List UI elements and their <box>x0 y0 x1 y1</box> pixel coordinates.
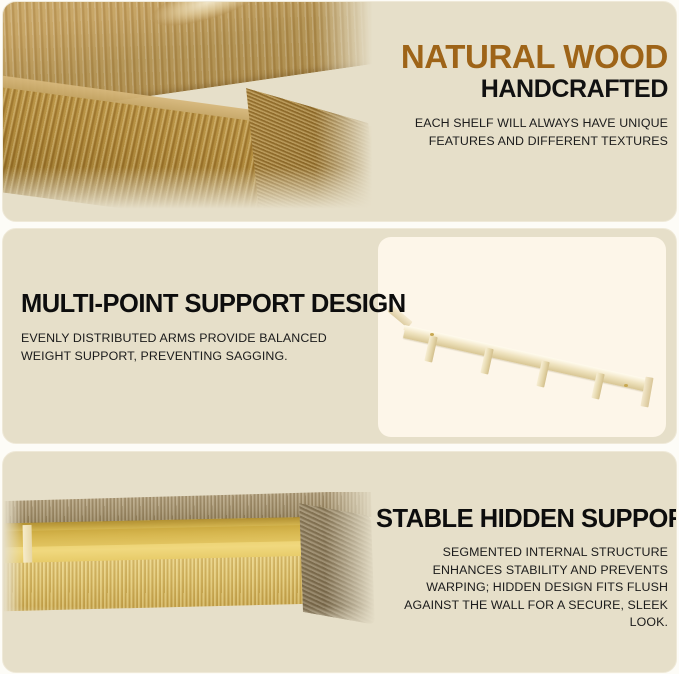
panel-3-text-block: STABLE HIDDEN SUPPORT SEGMENTED INTERNAL… <box>376 506 668 632</box>
bracket-rail-highlight <box>403 325 646 384</box>
bracket-graphic <box>378 237 666 437</box>
wood-knot <box>147 1 272 36</box>
subheading-handcrafted: HANDCRAFTED <box>376 77 668 103</box>
infographic-sheet: NATURAL WOOD HANDCRAFTED EACH SHELF WILL… <box>0 0 679 674</box>
panel-stable-hidden-support: STABLE HIDDEN SUPPORT SEGMENTED INTERNAL… <box>2 451 677 673</box>
panel-natural-wood: NATURAL WOOD HANDCRAFTED EACH SHELF WILL… <box>2 1 677 222</box>
wood-board-photo <box>2 1 385 222</box>
panel-3-body-text: SEGMENTED INTERNAL STRUCTURE ENHANCES ST… <box>376 544 668 632</box>
cavity-back-wall <box>2 525 323 548</box>
photo-fade-bottom <box>2 606 385 642</box>
hidden-support-photo <box>2 492 385 642</box>
panel-2-text-block: MULTI-POINT SUPPORT DESIGN EVENLY DISTRI… <box>21 291 371 365</box>
panel-2-body-text: EVENLY DISTRIBUTED ARMS PROVIDE BALANCED… <box>21 330 371 365</box>
panel-multi-point-support: MULTI-POINT SUPPORT DESIGN EVENLY DISTRI… <box>2 228 677 444</box>
panel-1-text-block: NATURAL WOOD HANDCRAFTED EACH SHELF WILL… <box>376 40 668 150</box>
panel-1-body-text: EACH SHELF WILL ALWAYS HAVE UNIQUE FEATU… <box>376 115 668 150</box>
heading-natural-wood: NATURAL WOOD <box>376 40 668 74</box>
screw-hole-icon <box>624 384 628 387</box>
heading-multi-point-support: MULTI-POINT SUPPORT DESIGN <box>21 291 371 317</box>
bracket-main-rail <box>403 329 647 391</box>
bracket-photo-card <box>378 237 666 437</box>
screw-hole-icon <box>430 333 434 336</box>
photo-fade-bottom <box>2 167 385 222</box>
heading-stable-hidden-support: STABLE HIDDEN SUPPORT <box>376 506 668 532</box>
